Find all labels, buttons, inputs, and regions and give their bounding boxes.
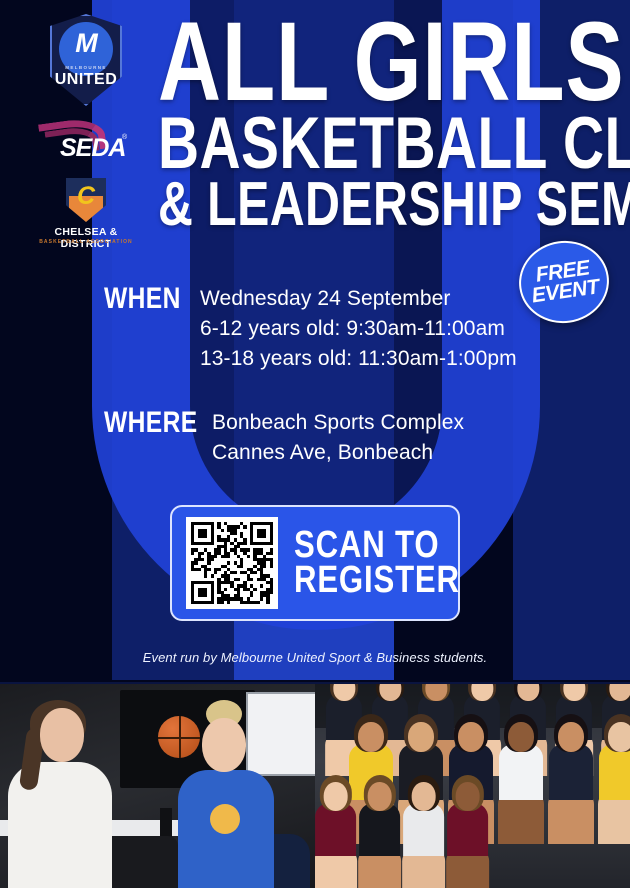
face — [358, 722, 384, 752]
face — [367, 782, 392, 811]
chelsea-district-logo: C CHELSEA & DISTRICT BASKETBALL ASSOCIAT… — [38, 178, 134, 252]
face — [323, 782, 348, 811]
melbourne-united-name: UNITED — [50, 71, 122, 89]
event-poster: M MELBOURNE UNITED SEDA ® C CHELSEA & DI… — [0, 0, 630, 888]
face — [411, 782, 436, 811]
face — [408, 722, 434, 752]
jersey — [403, 803, 445, 856]
person-right-head — [202, 718, 246, 772]
jersey — [549, 744, 593, 800]
poster-headline: ALL GIRLS BASKETBALL CLINIC & LEADERSHIP… — [158, 16, 603, 231]
seated-girl — [495, 712, 547, 844]
photo-strip — [0, 682, 630, 888]
photo-left-two-women — [0, 684, 315, 888]
face — [455, 782, 480, 811]
face — [610, 684, 630, 701]
when-label: WHEN — [104, 284, 183, 314]
jersey-logo — [210, 804, 240, 834]
when-values: Wednesday 24 September 6-12 years old: 9… — [200, 284, 517, 373]
when-line-1: Wednesday 24 September — [200, 284, 517, 314]
person-left-head — [40, 708, 84, 762]
face — [558, 722, 584, 752]
cta-line-2: REGISTER — [294, 563, 460, 598]
jersey — [315, 803, 357, 856]
seda-logo: SEDA ® — [38, 118, 134, 164]
seated-girl — [399, 773, 448, 888]
registered-mark-icon: ® — [122, 134, 127, 141]
chelsea-subtitle: BASKETBALL ASSOCIATION — [38, 239, 134, 245]
chelsea-name: CHELSEA & DISTRICT — [38, 226, 134, 250]
headline-line-1: ALL GIRLS — [158, 16, 505, 108]
where-label: WHERE — [104, 408, 193, 438]
seated-girl — [545, 712, 597, 844]
melbourne-united-monogram: M — [50, 30, 122, 57]
where-line-2: Cannes Ave, Bonbeach — [212, 438, 464, 468]
where-row: WHERE Bonbeach Sports Complex Cannes Ave… — [104, 408, 464, 468]
qr-code[interactable] — [186, 517, 278, 609]
melbourne-united-logo: M MELBOURNE UNITED — [50, 14, 122, 106]
when-line-3: 13-18 years old: 11:30am-1:00pm — [200, 344, 517, 374]
seated-girl — [355, 773, 404, 888]
when-row: WHEN Wednesday 24 September 6-12 years o… — [104, 284, 517, 373]
seated-girl — [595, 712, 630, 844]
face — [458, 722, 484, 752]
when-line-2: 6-12 years old: 9:30am-11:00am — [200, 314, 517, 344]
jersey — [359, 803, 401, 856]
melbourne-united-toptext: MELBOURNE — [50, 65, 122, 70]
cta-line-1: SCAN TO — [294, 528, 460, 563]
headline-line-3: & LEADERSHIP SEMINAR — [158, 180, 505, 231]
where-values: Bonbeach Sports Complex Cannes Ave, Bonb… — [212, 408, 464, 468]
whiteboard — [246, 692, 315, 776]
face — [608, 722, 630, 752]
seated-girl — [315, 773, 360, 888]
sponsor-logos: M MELBOURNE UNITED SEDA ® C CHELSEA & DI… — [38, 14, 134, 252]
footer-note: Event run by Melbourne United Sport & Bu… — [0, 650, 630, 665]
where-line-1: Bonbeach Sports Complex — [212, 408, 464, 438]
jersey — [599, 744, 630, 800]
headline-line-2: BASKETBALL CLINIC — [158, 114, 505, 174]
jersey — [499, 744, 543, 800]
face — [508, 722, 534, 752]
scan-to-register-text: SCAN TO REGISTER — [294, 528, 460, 598]
basketball-icon — [158, 716, 200, 758]
chelsea-monogram: C — [66, 184, 106, 209]
jersey — [447, 803, 489, 856]
photo-right-girls-team — [315, 684, 630, 888]
seda-wordmark: SEDA — [60, 134, 125, 163]
seated-girl — [443, 773, 492, 888]
scan-to-register-panel[interactable]: SCAN TO REGISTER — [170, 505, 460, 621]
